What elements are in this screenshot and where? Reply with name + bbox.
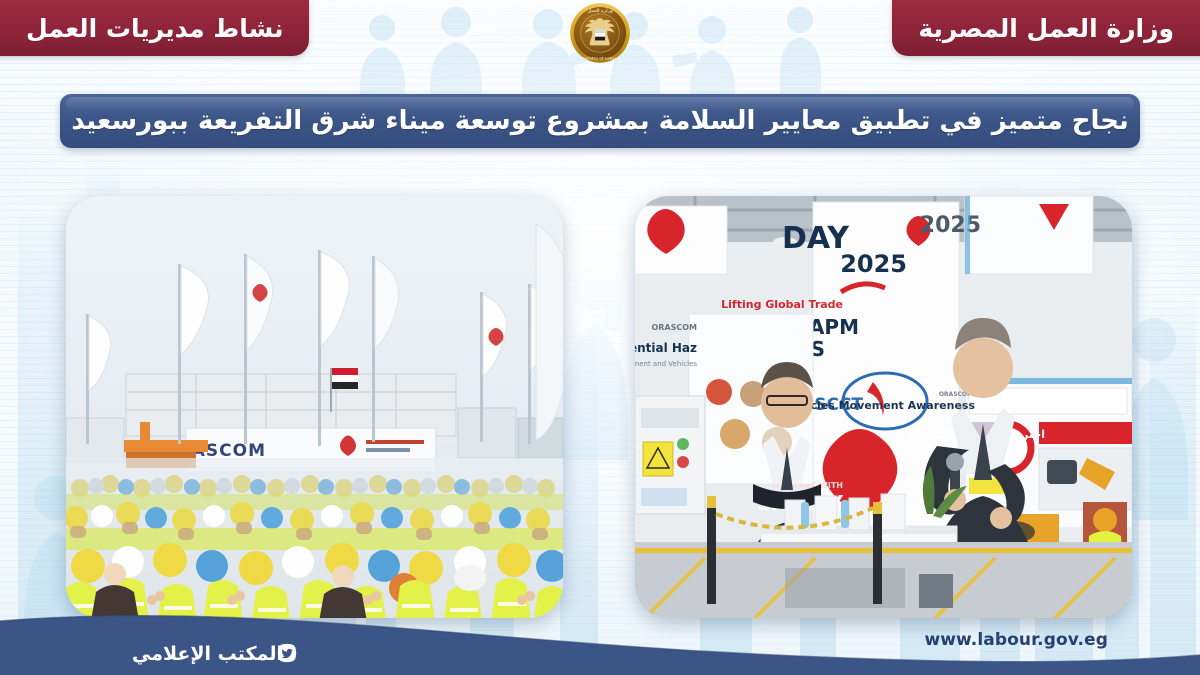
photo-worker-crowd: ORASCOM xyxy=(66,196,563,618)
footer-left-group: المكتب الإعلامي xyxy=(132,643,297,665)
media-office-label: المكتب الإعلامي xyxy=(132,643,283,665)
svg-text:2025: 2025 xyxy=(840,250,907,278)
header-right-label: وزارة العمل المصرية xyxy=(918,16,1174,41)
headline-banner: نجاح متميز في تطبيق معايير السلامة بمشرو… xyxy=(60,94,1140,148)
svg-text:APM: APM xyxy=(809,315,859,339)
twitter-icon[interactable] xyxy=(277,643,297,663)
page-header: نشاط مديريات العمل وزارة العمل المصرية xyxy=(0,0,1200,68)
photo-right-illustration: DAY 2025 Lifting Global Trade APM TERMIN… xyxy=(635,196,1132,618)
photo-left-illustration: ORASCOM xyxy=(66,196,563,618)
svg-text:Lifting Global Trade: Lifting Global Trade xyxy=(721,298,843,311)
header-tab-activity: نشاط مديريات العمل xyxy=(0,0,309,56)
photo-safety-day-speech: DAY 2025 Lifting Global Trade APM TERMIN… xyxy=(635,196,1132,618)
news-card-canvas: نشاط مديريات العمل وزارة العمل المصرية xyxy=(0,0,1200,675)
svg-text:Equipment and Vehicles: Equipment and Vehicles xyxy=(635,360,697,368)
svg-text:Potential Haz: Potential Haz xyxy=(635,341,697,355)
svg-text:ORASCOM: ORASCOM xyxy=(651,323,697,332)
page-footer: المكتب الإعلامي www.labour.gov.eg xyxy=(0,597,1200,675)
header-left-label: نشاط مديريات العمل xyxy=(26,16,283,41)
page-title: نجاح متميز في تطبيق معايير السلامة بمشرو… xyxy=(57,108,1143,134)
svg-text:Ministry of Labour: Ministry of Labour xyxy=(581,57,620,61)
svg-text:وزارة العمل: وزارة العمل xyxy=(587,9,613,14)
ministry-seal-icon: وزارة العمل Ministry of Labour xyxy=(569,2,631,64)
header-tab-ministry: وزارة العمل المصرية xyxy=(892,0,1200,56)
svg-text:2025: 2025 xyxy=(920,213,981,238)
website-url[interactable]: www.labour.gov.eg xyxy=(924,630,1108,650)
